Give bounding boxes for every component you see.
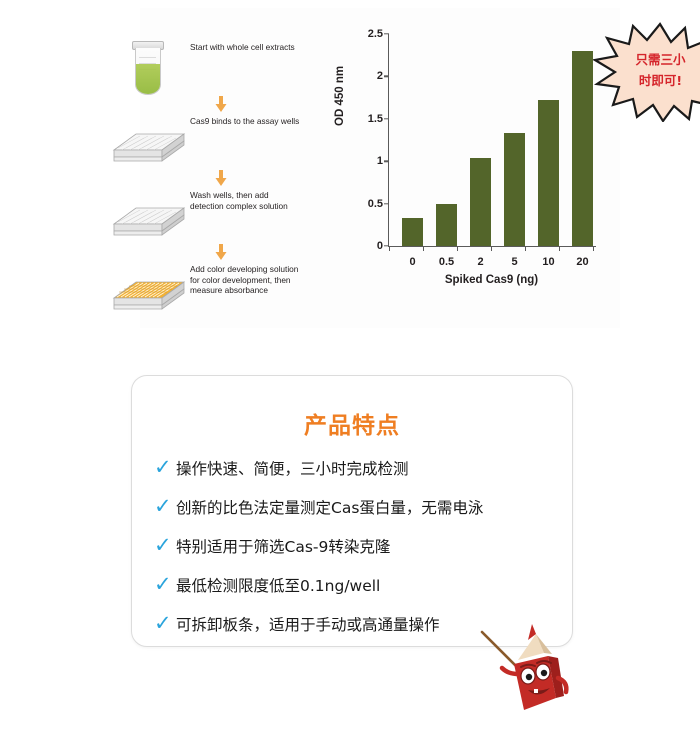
workflow-step: Start with whole cell extracts bbox=[110, 38, 310, 100]
feature-label: 可拆卸板条，适用于手动或高通量操作 bbox=[176, 613, 440, 635]
y-tick-label: 2.5 bbox=[368, 28, 383, 40]
check-icon: ✓ bbox=[154, 457, 176, 478]
assay-overview-panel: Start with whole cell extracts bbox=[140, 8, 620, 328]
x-tick-label: 0.5 bbox=[439, 256, 454, 268]
x-tick-label: 5 bbox=[511, 256, 517, 268]
workflow-step: Cas9 binds to the assay wells bbox=[110, 112, 310, 174]
workflow-step-label: Add color developing solution for color … bbox=[190, 264, 302, 296]
bar bbox=[572, 51, 593, 246]
workflow-step-label: Cas9 binds to the assay wells bbox=[190, 116, 302, 127]
y-tick-label: 1.5 bbox=[368, 113, 383, 125]
feature-label: 操作快速、简便，三小时完成检测 bbox=[176, 457, 409, 479]
callout-line-2: 时即可! bbox=[593, 70, 700, 91]
feature-label: 特别适用于筛选Cas-9转染克隆 bbox=[176, 535, 390, 557]
microplate-icon bbox=[110, 186, 188, 248]
y-tick-label: 1 bbox=[377, 155, 383, 167]
x-tick-label: 20 bbox=[576, 256, 588, 268]
down-arrow-icon bbox=[214, 170, 228, 186]
check-icon: ✓ bbox=[154, 535, 176, 556]
feature-item: ✓ 操作快速、简便，三小时完成检测 bbox=[154, 448, 572, 487]
product-features-card: 产品特点 ✓ 操作快速、简便，三小时完成检测 ✓ 创新的比色法定量测定Cas蛋白… bbox=[131, 375, 573, 647]
chart-plot-area: 0 0.5 1 1.5 2 2.5 0 bbox=[388, 34, 596, 247]
bar bbox=[402, 218, 423, 246]
feature-item: ✓ 最低检测限度低至0.1ng/well bbox=[154, 565, 572, 604]
callout-line-1: 只需三小 bbox=[593, 49, 700, 70]
feature-label: 最低检测限度低至0.1ng/well bbox=[176, 574, 380, 596]
check-icon: ✓ bbox=[154, 496, 176, 517]
microplate-icon bbox=[110, 112, 188, 174]
microplate-colored-icon bbox=[110, 260, 188, 322]
od450-bar-chart: OD 450 nm 0 0.5 1 1.5 2 2.5 bbox=[340, 22, 610, 318]
assay-workflow-diagram: Start with whole cell extracts bbox=[110, 38, 310, 308]
bar bbox=[504, 133, 525, 246]
bar bbox=[538, 100, 559, 246]
check-icon: ✓ bbox=[154, 574, 176, 595]
feature-item: ✓ 特别适用于筛选Cas-9转染克隆 bbox=[154, 526, 572, 565]
pencil-mascot-icon bbox=[478, 620, 588, 720]
x-tick-label: 10 bbox=[542, 256, 554, 268]
workflow-step: Add color developing solution for color … bbox=[110, 260, 310, 322]
feature-label: 创新的比色法定量测定Cas蛋白量，无需电泳 bbox=[176, 496, 483, 518]
y-tick-label: 0 bbox=[377, 240, 383, 252]
x-tick-label: 0 bbox=[409, 256, 415, 268]
workflow-step-label: Wash wells, then add detection complex s… bbox=[190, 190, 302, 211]
down-arrow-icon bbox=[214, 96, 228, 112]
feature-item: ✓ 创新的比色法定量测定Cas蛋白量，无需电泳 bbox=[154, 487, 572, 526]
features-title: 产品特点 bbox=[132, 406, 572, 440]
bar bbox=[436, 204, 457, 246]
down-arrow-icon bbox=[214, 244, 228, 260]
eppendorf-tube-icon bbox=[110, 38, 188, 100]
callout-starburst: 只需三小 时即可! bbox=[593, 22, 700, 122]
bar bbox=[470, 158, 491, 246]
workflow-step-label: Start with whole cell extracts bbox=[190, 42, 302, 53]
x-tick-label: 2 bbox=[477, 256, 483, 268]
check-icon: ✓ bbox=[154, 613, 176, 634]
callout-text: 只需三小 时即可! bbox=[593, 49, 700, 91]
y-tick-label: 2 bbox=[377, 70, 383, 82]
chart-x-axis-label: Spiked Cas9 (ng) bbox=[388, 274, 595, 286]
y-tick-label: 0.5 bbox=[368, 198, 383, 210]
chart-y-axis-label: OD 450 nm bbox=[334, 66, 346, 126]
workflow-step: Wash wells, then add detection complex s… bbox=[110, 186, 310, 248]
